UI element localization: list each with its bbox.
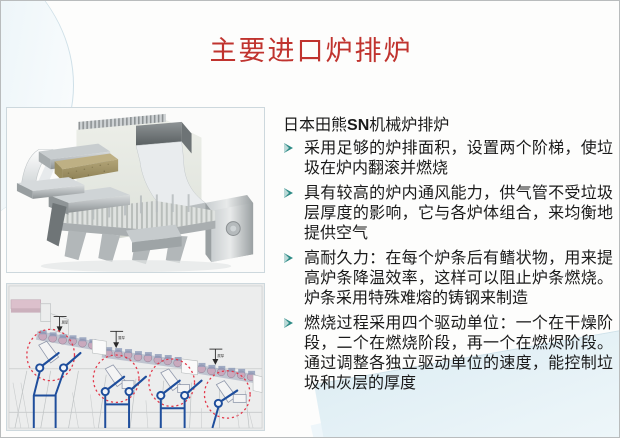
arrow-bullet-icon	[284, 253, 293, 263]
bullet-item-2: 具有较高的炉内通风能力，供气管不受垃圾层厚度的影响，它与各炉体组合，来均衡地提供…	[283, 184, 613, 244]
bullet-item-3: 高耐久力：在每个炉条后有鳍状物，用来提高炉条降温效率，这样可以阻止炉条燃烧。炉条…	[283, 249, 613, 309]
lead-bold-sn: SN	[347, 117, 369, 134]
svg-text:層厚: 層厚	[118, 335, 125, 340]
page-title: 主要进口炉排炉	[1, 29, 620, 68]
arrow-bullet-icon	[284, 318, 293, 328]
lead-prefix: 日本田熊	[283, 117, 347, 134]
figure-grate-furnace-render	[6, 107, 265, 273]
bullet-text-3: 高耐久力：在每个炉条后有鳍状物，用来提高炉条降温效率，这样可以阻止炉条燃烧。炉条…	[304, 249, 613, 309]
arrow-bullet-icon	[284, 188, 293, 198]
grate-drive-schematic-illustration: 層厚 層厚 層厚	[7, 284, 264, 430]
slide: 主要进口炉排炉	[0, 0, 620, 438]
lead-heading: 日本田熊SN机械炉排炉	[283, 115, 613, 136]
lead-suffix: 机械炉排炉	[369, 117, 449, 134]
arrow-bullet-icon	[284, 143, 293, 153]
figure-drive-unit-schematic: 層厚 層厚 層厚	[6, 283, 265, 431]
bullet-text-1: 采用足够的炉排面积，设置两个阶梯，使垃圾在炉内翻滚并燃烧	[304, 139, 613, 179]
bullet-text-4: 燃烧过程采用四个驱动单位：一个在干燥阶段，二个在燃烧阶段，再一个在燃烬阶段。通过…	[304, 314, 613, 394]
svg-text:層厚: 層厚	[62, 319, 69, 324]
content-text-column: 日本田熊SN机械炉排炉 采用足够的炉排面积，设置两个阶梯，使垃圾在炉内翻滚并燃烧…	[283, 115, 613, 399]
grate-furnace-3d-illustration	[7, 108, 264, 272]
svg-text:層厚: 層厚	[217, 353, 224, 358]
bullet-item-1: 采用足够的炉排面积，设置两个阶梯，使垃圾在炉内翻滚并燃烧	[283, 139, 613, 179]
bullet-item-4: 燃烧过程采用四个驱动单位：一个在干燥阶段，二个在燃烧阶段，再一个在燃烬阶段。通过…	[283, 314, 613, 394]
bullet-text-2: 具有较高的炉内通风能力，供气管不受垃圾层厚度的影响，它与各炉体组合，来均衡地提供…	[304, 184, 613, 244]
